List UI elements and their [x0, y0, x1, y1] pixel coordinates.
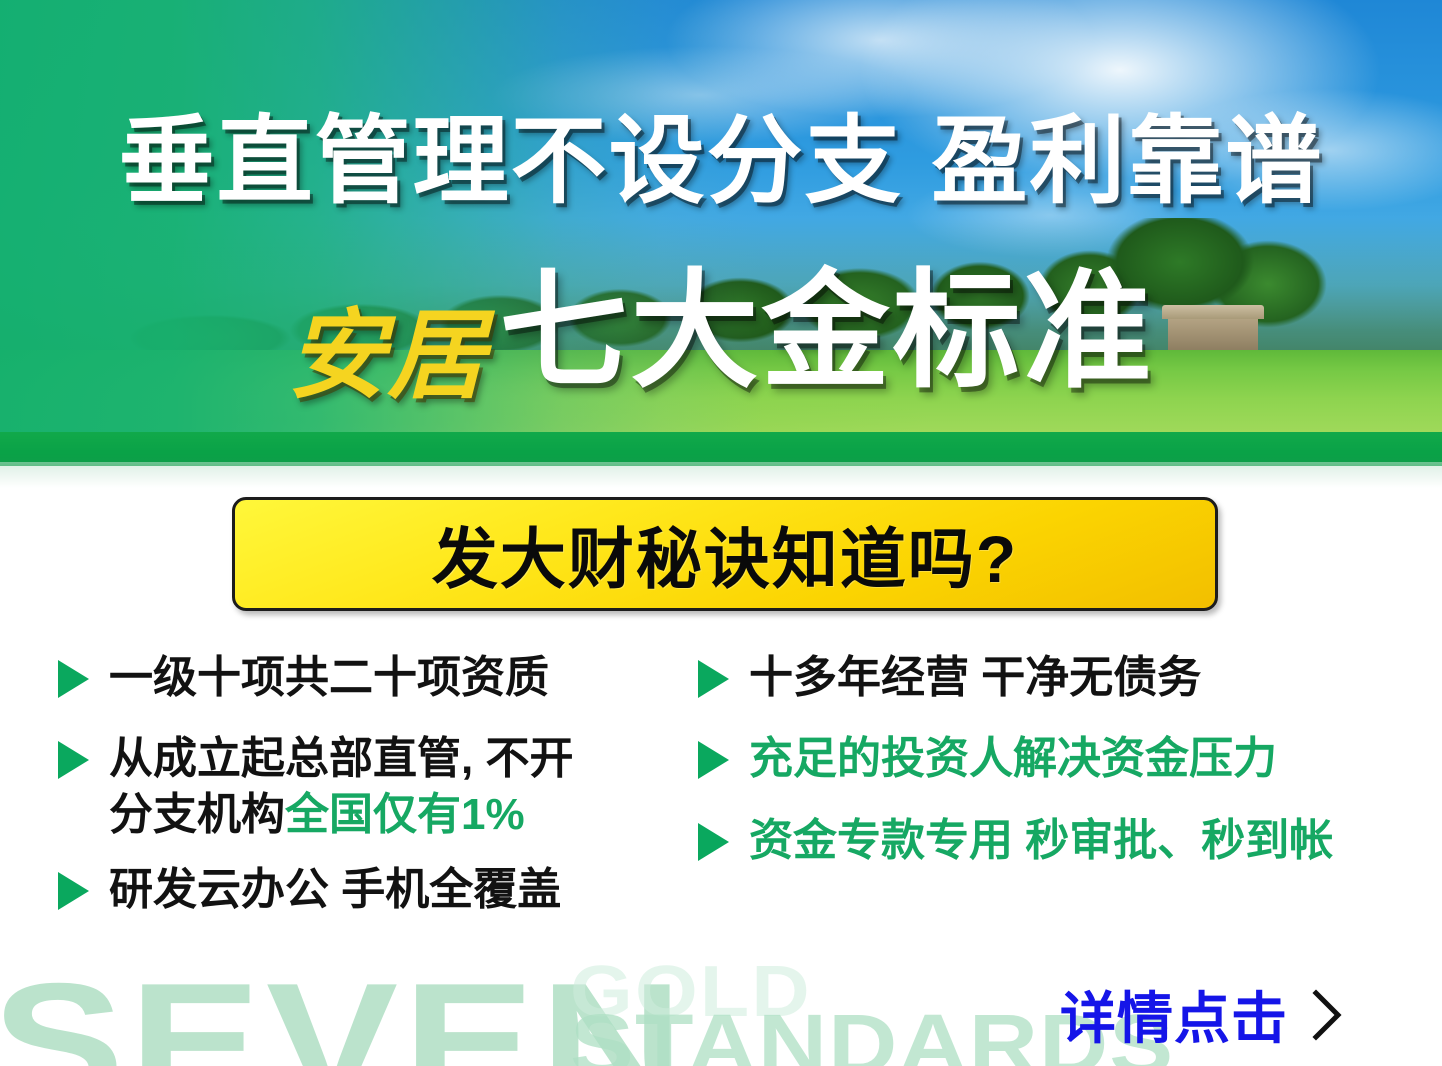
feature-text: 从成立起总部直管, 不开分支机构全国仅有1%	[109, 731, 573, 842]
green-bottom-band	[0, 432, 1442, 466]
features-column-left: 一级十项共二十项资质 从成立起总部直管, 不开分支机构全国仅有1% 研发云办公 …	[58, 650, 698, 944]
hero-headline-secondary: 七大金标准	[500, 260, 1155, 403]
triangle-right-icon	[58, 741, 89, 779]
triangle-right-icon	[58, 660, 89, 698]
gold-banner-text: 发大财秘诀知道吗?	[432, 506, 1018, 602]
feature-text-line2-prefix: 分支机构	[109, 790, 285, 839]
feature-item: 从成立起总部直管, 不开分支机构全国仅有1%	[58, 731, 698, 842]
hero-headline-primary: 垂直管理不设分支 盈利靠谱	[0, 112, 1442, 213]
triangle-right-icon	[698, 660, 729, 698]
feature-text: 充足的投资人解决资金压力	[749, 731, 1277, 786]
feature-text-highlight: 全国仅有1%	[285, 790, 525, 839]
feature-text: 一级十项共二十项资质	[109, 650, 549, 705]
gold-question-banner[interactable]: 发大财秘诀知道吗?	[232, 497, 1218, 611]
details-cta-label: 详情点击	[1060, 974, 1288, 1055]
hero-brand-name: 安居	[287, 300, 487, 410]
feature-text: 研发云办公 手机全覆盖	[109, 862, 561, 917]
feature-item: 十多年经营 干净无债务	[698, 650, 1418, 705]
feature-text: 资金专款专用 秒审批、秒到帐	[749, 813, 1333, 868]
feature-text: 十多年经营 干净无债务	[749, 650, 1201, 705]
ad-banner-page: 垂直管理不设分支 盈利靠谱 安居七大金标准 发大财秘诀知道吗? 一级十项共二十项…	[0, 0, 1442, 1066]
triangle-right-icon	[58, 872, 89, 910]
hero-headline-secondary-row: 安居七大金标准	[0, 268, 1442, 404]
feature-item: 资金专款专用 秒审批、秒到帐	[698, 813, 1418, 868]
feature-item: 一级十项共二十项资质	[58, 650, 698, 705]
feature-item: 研发云办公 手机全覆盖	[58, 862, 698, 917]
feature-text-line1: 从成立起总部直管, 不开	[109, 734, 573, 783]
triangle-right-icon	[698, 823, 729, 861]
chevron-right-icon	[1310, 988, 1344, 1042]
features-section: 一级十项共二十项资质 从成立起总部直管, 不开分支机构全国仅有1% 研发云办公 …	[0, 650, 1442, 980]
details-cta-link[interactable]: 详情点击	[1060, 974, 1344, 1055]
feature-item: 充足的投资人解决资金压力	[698, 731, 1418, 786]
features-column-right: 十多年经营 干净无债务 充足的投资人解决资金压力 资金专款专用 秒审批、秒到帐	[698, 650, 1418, 894]
triangle-right-icon	[698, 741, 729, 779]
